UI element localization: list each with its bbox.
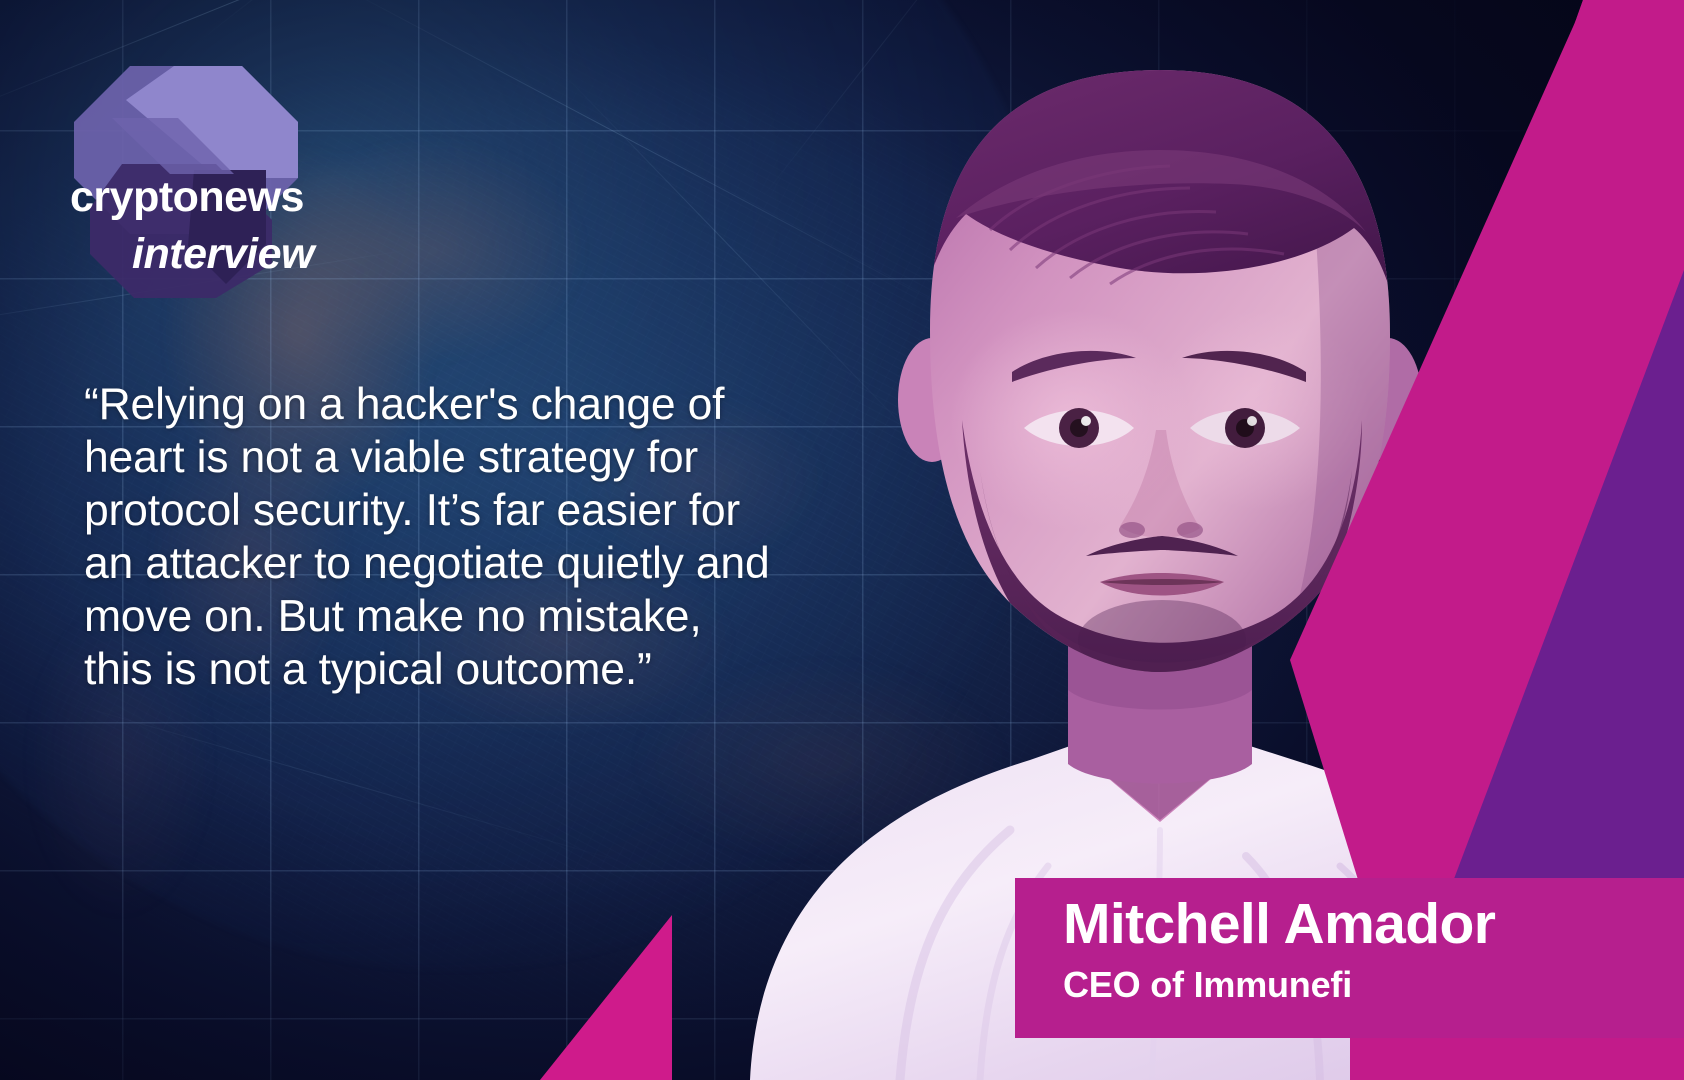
magenta-triangle-bottom-left — [540, 915, 672, 1080]
logo-wordmark: cryptonews — [70, 176, 376, 220]
quote-line: an attacker to negotiate quietly and — [84, 537, 814, 590]
quote-line: move on. But make no mistake, — [84, 590, 814, 643]
quote-line: heart is not a viable strategy for — [84, 431, 814, 484]
speaker-role: CEO of Immunefi — [1063, 967, 1352, 1003]
quote-line: “Relying on a hacker's change of — [84, 378, 814, 431]
speaker-name: Mitchell Amador — [1063, 896, 1495, 953]
speaker-name-banner: Mitchell Amador CEO of Immunefi — [1015, 878, 1684, 1038]
quote-line: this is not a typical outcome.” — [84, 643, 814, 696]
logo-subtitle: interview — [70, 230, 376, 279]
quote-text: “Relying on a hacker's change of heart i… — [84, 378, 814, 696]
quote-line: protocol security. It’s far easier for — [84, 484, 814, 537]
cryptonews-logo[interactable]: cryptonews interview — [66, 58, 376, 310]
magenta-strip-bottom-right — [1350, 1035, 1684, 1080]
interview-quote-card: cryptonews interview “Relying on a hacke… — [0, 0, 1684, 1080]
